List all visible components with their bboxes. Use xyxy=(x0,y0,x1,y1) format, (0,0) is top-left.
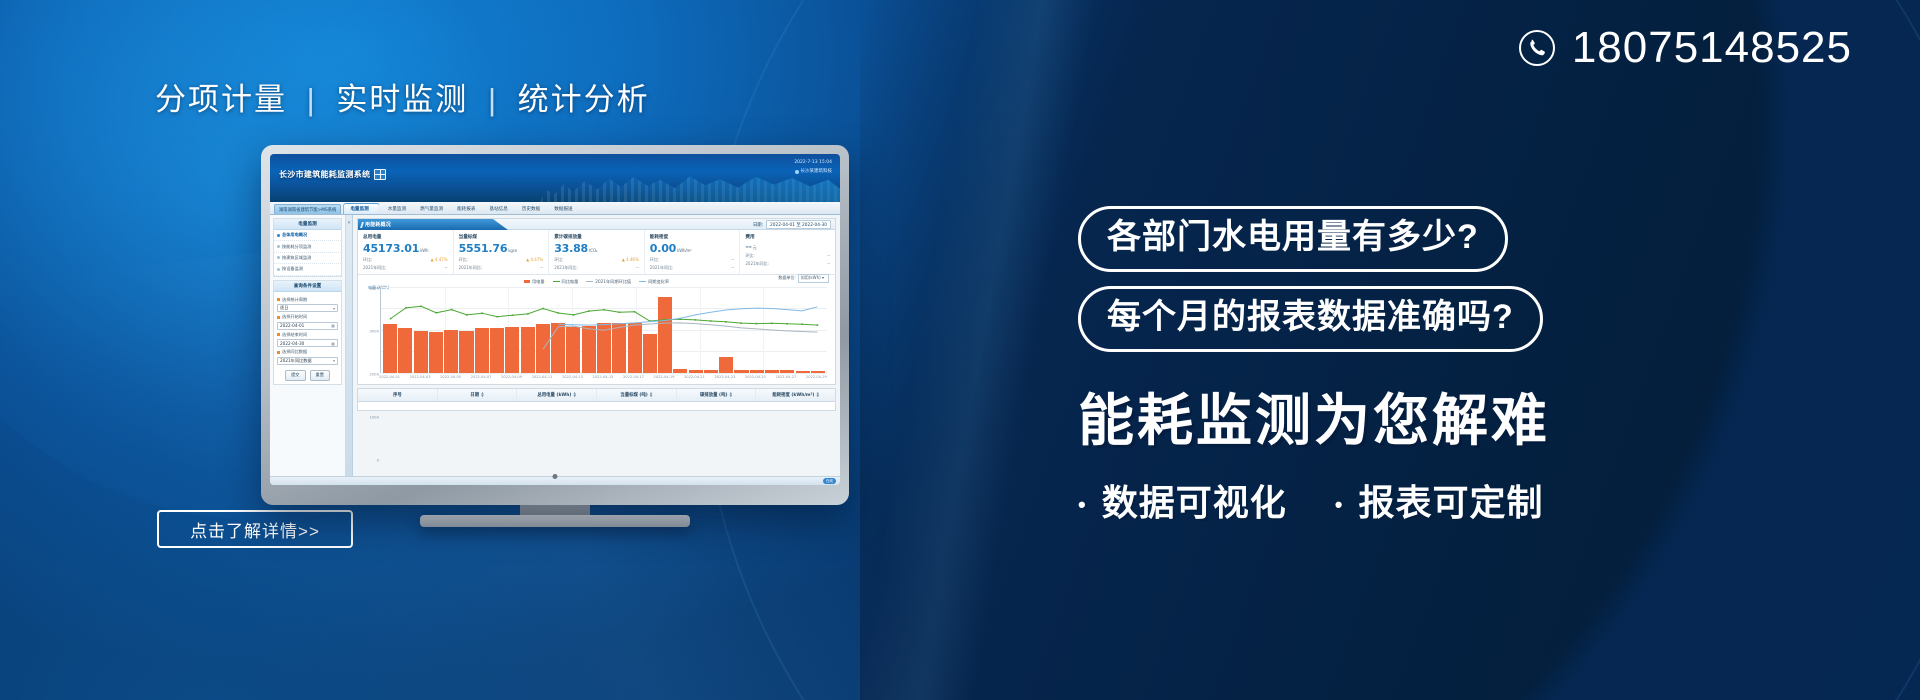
kpi-value: 0.00kWh/m² xyxy=(650,242,735,255)
date-range-value[interactable]: 2022-04-01 至 2022-04-30 xyxy=(766,220,831,229)
table-column-header[interactable]: 序号 xyxy=(358,389,438,401)
chart-legend: 用电量同比电量2021年同期环比值同期变化率 xyxy=(364,279,829,285)
phone-circle-icon xyxy=(1518,29,1556,67)
legend-label: 2021年同期环比值 xyxy=(595,279,631,285)
reset-button[interactable]: 重置 xyxy=(310,370,330,381)
app-body: 电量监测 总体用电概况 按能耗分项监测 xyxy=(270,215,840,485)
sidebar-item-by-area[interactable]: 按建筑区域监测 xyxy=(274,253,341,264)
line-series xyxy=(558,306,817,324)
tagline-part-2: 实时监测 xyxy=(336,82,468,117)
legend-item[interactable]: 同比电量 xyxy=(553,279,579,285)
banner-tagline: 分项计量 | 实时监测 | 统计分析 xyxy=(155,74,650,119)
x-tick-label: 2022-04-03 xyxy=(410,375,431,379)
sidebar-item-label: 按设备监测 xyxy=(282,266,303,272)
panel-header: 用能耗概况 日期: 2022-04-01 至 2022-04-30 xyxy=(358,219,835,230)
monitor-stand-base xyxy=(420,515,690,527)
chevron-down-icon: ▾ xyxy=(333,358,335,363)
kpi-value: 5551.76kgce xyxy=(459,242,544,255)
phone-number: 18075148525 xyxy=(1572,26,1852,70)
end-date-input[interactable]: 2022-04-30 ▦ xyxy=(277,339,338,347)
x-tick-label: 2022-04-29 xyxy=(806,375,827,379)
data-point xyxy=(588,310,590,312)
header-datetime: 2022-7-13 15:04 xyxy=(794,159,832,168)
x-tick-label: 2022-04-13 xyxy=(562,375,583,379)
sidebar-collapse-handle[interactable]: « xyxy=(346,215,353,485)
bullet-icon xyxy=(277,234,280,237)
y-tick-label: 3000 xyxy=(369,328,379,333)
monitor-bezel: 长沙市建筑能耗监测系统 2022-7-13 15:04 长沙某建筑科技 xyxy=(261,145,849,505)
data-point xyxy=(405,307,407,309)
field-label-period: 选择统计周期 xyxy=(277,297,338,303)
bullet-dot-2: • xyxy=(1335,492,1344,517)
table-column-label: 能耗密度 (kWh/m²) xyxy=(772,392,814,398)
x-tick-label: 2022-04-09 xyxy=(501,375,522,379)
x-tick-label: 2022-04-17 xyxy=(623,375,644,379)
chart-x-axis: 2022-04-012022-04-032022-04-052022-04-07… xyxy=(380,375,827,382)
table-column-header[interactable]: 当量标煤 (吨)▲▼ xyxy=(597,389,677,401)
kpi-change: ▲ 4.47% xyxy=(431,257,448,262)
date-range-label: 日期: xyxy=(753,222,763,228)
data-point xyxy=(573,314,575,316)
kpi-value: 33.88tCO₂ xyxy=(554,242,639,255)
table-header-row: 序号日期▲▼总用电量 (kWh)▲▼当量标煤 (吨)▲▼碳排放量 (吨)▲▼能耗… xyxy=(358,389,835,402)
legend-item[interactable]: 用电量 xyxy=(524,279,545,285)
data-table: 序号日期▲▼总用电量 (kWh)▲▼当量标煤 (吨)▲▼碳排放量 (吨)▲▼能耗… xyxy=(357,388,836,411)
sidebar-filter-card: 查询条件设置 选择统计周期 逐日 ▾ xyxy=(273,280,342,385)
app-header-meta: 2022-7-13 15:04 长沙某建筑科技 xyxy=(794,159,832,176)
building-grid-icon xyxy=(374,169,386,180)
data-point xyxy=(801,323,803,325)
header-user[interactable]: 长沙某建筑科技 xyxy=(794,168,832,177)
user-icon xyxy=(795,170,799,174)
data-point xyxy=(497,315,499,317)
calendar-icon: ▦ xyxy=(331,341,335,346)
kpi-card-carbon-emission: 累计碳排放量 33.88tCO₂ 环比: ▲ 4.46% xyxy=(549,230,645,274)
promo-banner: 分项计量 | 实时监测 | 统计分析 18075148525 各部门水电用量有多… xyxy=(0,0,1920,700)
line-series-layer xyxy=(381,287,827,373)
monitor-mockup: 长沙市建筑能耗监测系统 2022-7-13 15:04 长沙某建筑科技 xyxy=(261,145,849,505)
data-point xyxy=(603,309,605,311)
arrow-up-icon: ▲ xyxy=(622,257,625,262)
city-skyline-graphic xyxy=(540,172,840,202)
data-point xyxy=(420,305,422,307)
app-main: 用能耗概况 日期: 2022-04-01 至 2022-04-30 总用电量 xyxy=(353,215,840,485)
x-tick-label: 2022-04-07 xyxy=(471,375,492,379)
y-tick-label: 2000 xyxy=(369,371,379,376)
x-tick-label: 2022-04-19 xyxy=(654,375,675,379)
question-pill-1: 各部门水电用量有多少? xyxy=(1078,206,1508,272)
table-column-header[interactable]: 日期▲▼ xyxy=(438,389,518,401)
square-bullet-icon xyxy=(277,351,280,354)
sidebar-item-by-category[interactable]: 按能耗分项监测 xyxy=(274,241,341,252)
kpi-value: 45173.01kWh xyxy=(363,242,448,255)
panel-title: 用能耗概况 xyxy=(358,219,508,230)
data-point xyxy=(527,313,529,315)
data-point xyxy=(695,319,697,321)
calendar-icon: ▦ xyxy=(331,323,335,328)
data-point xyxy=(512,314,514,316)
tagline-separator-2: | xyxy=(488,82,498,117)
table-column-label: 序号 xyxy=(393,392,402,398)
sidebar-nav-card: 电量监测 总体用电概况 按能耗分项监测 xyxy=(273,218,342,277)
cta-button[interactable]: 点击了解详情>> xyxy=(157,510,353,548)
table-column-label: 日期 xyxy=(470,392,479,398)
field-label-yoy: 选择同比数据 xyxy=(277,349,338,355)
square-bullet-icon xyxy=(277,333,280,336)
table-column-label: 总用电量 (kWh) xyxy=(537,392,571,398)
square-bullet-icon xyxy=(277,316,280,319)
question-pill-2: 每个月的报表数据准确吗? xyxy=(1078,286,1543,352)
app-sidebar: 电量监测 总体用电概况 按能耗分项监测 xyxy=(270,215,346,485)
data-point xyxy=(634,310,636,312)
feature-bullet-2: 报表可定制 xyxy=(1358,482,1543,523)
bullet-icon xyxy=(277,256,280,259)
tab-water[interactable]: 水量监测 xyxy=(382,203,412,214)
start-date-input[interactable]: 2022-04-01 ▦ xyxy=(277,322,338,330)
data-point xyxy=(817,324,819,326)
data-point xyxy=(390,317,392,319)
sidebar-item-by-device[interactable]: 按设备监测 xyxy=(274,264,341,275)
kpi-card-energy-density: 能耗密度 0.00kWh/m² 环比: -- xyxy=(645,230,741,274)
sort-arrows-icon[interactable]: ▲▼ xyxy=(816,392,819,396)
bullet-icon xyxy=(277,268,280,271)
x-tick-label: 2022-04-11 xyxy=(532,375,553,379)
kpi-card-total-electricity: 总用电量 45173.01kWh 环比: ▲ 4.47% xyxy=(358,230,454,274)
x-tick-label: 2022-04-15 xyxy=(593,375,614,379)
data-point xyxy=(436,312,438,314)
monitor-screen: 长沙市建筑能耗监测系统 2022-7-13 15:04 长沙某建筑科技 xyxy=(270,154,840,485)
field-label-end: 选择结束时间 xyxy=(277,332,338,338)
table-column-header[interactable]: 能耗密度 (kWh/m²)▲▼ xyxy=(756,389,835,401)
gridline: 0 xyxy=(381,373,827,374)
arrow-up-icon: ▲ xyxy=(431,257,434,262)
sort-arrows-icon[interactable]: ▲▼ xyxy=(729,392,732,396)
table-body xyxy=(358,402,835,410)
kpi-card-standard-coal: 当量标煤 5551.76kgce 环比: ▲ 4.47% xyxy=(454,230,550,274)
period-select[interactable]: 逐日 ▾ xyxy=(277,304,338,312)
legend-swatch xyxy=(639,281,646,283)
sidebar-nav-title: 电量监测 xyxy=(274,219,341,230)
headline: 能耗监测为您解难 xyxy=(1078,390,1798,452)
header-user-name: 长沙某建筑科技 xyxy=(801,168,833,177)
x-tick-label: 2022-04-23 xyxy=(714,375,735,379)
legend-item[interactable]: 同期变化率 xyxy=(639,279,669,285)
data-point xyxy=(771,322,773,324)
data-point xyxy=(725,321,727,323)
tab-data-submit[interactable]: 数据报送 xyxy=(548,203,578,214)
monitor-power-led xyxy=(553,474,558,479)
sidebar-item-label: 按能耗分项监测 xyxy=(282,244,311,250)
sort-arrows-icon[interactable]: ▲▼ xyxy=(650,392,653,396)
chart-area: 用电量同比电量2021年同期环比值同期变化率 数据单位: 如用(kWh) ▾ 电… xyxy=(358,275,835,384)
feature-bullets: • 数据可视化 • 报表可定制 xyxy=(1078,474,1798,526)
sidebar-form-actions: 提交 重置 xyxy=(277,370,338,381)
legend-item[interactable]: 2021年同期环比值 xyxy=(586,279,631,285)
tab-electricity[interactable]: 电量监测 xyxy=(343,203,379,214)
kpi-change: ▲ 4.46% xyxy=(622,257,639,262)
y-tick-label: 1000 xyxy=(369,414,379,419)
chevron-down-icon: ▾ xyxy=(333,306,335,311)
x-tick-label: 2022-04-27 xyxy=(775,375,796,379)
legend-label: 用电量 xyxy=(532,279,545,285)
contact-phone[interactable]: 18075148525 xyxy=(1518,26,1852,70)
marketing-copy: 各部门水电用量有多少? 每个月的报表数据准确吗? 能耗监测为您解难 • 数据可视… xyxy=(1078,206,1798,526)
legend-label: 同比电量 xyxy=(562,279,579,285)
kpi-value: --元 xyxy=(745,242,830,251)
square-bullet-icon xyxy=(277,298,280,301)
table-column-header[interactable]: 碳排放量 (吨)▲▼ xyxy=(677,389,757,401)
data-point xyxy=(756,322,758,324)
y-tick-label: 4000 xyxy=(369,285,379,290)
data-point xyxy=(710,320,712,322)
data-point xyxy=(466,314,468,316)
sort-arrows-icon[interactable]: ▲▼ xyxy=(481,392,484,396)
yoy-select[interactable]: 2021年同比数据 ▾ xyxy=(277,357,338,365)
sort-arrows-icon[interactable]: ▲▼ xyxy=(573,392,576,396)
legend-label: 同期变化率 xyxy=(648,279,669,285)
feature-bullet-1: 数据可视化 xyxy=(1102,482,1287,523)
tab-home[interactable]: 湖南湖南省建筑节能>MS系统 xyxy=(274,204,341,214)
chart-unit-selector[interactable]: 数据单位: 如用(kWh) ▾ xyxy=(778,274,829,283)
app-tabbar: 湖南湖南省建筑节能>MS系统 电量监测 水量监测 燃气量监测 能耗报表 基站信息… xyxy=(270,202,840,215)
tab-reports[interactable]: 能耗报表 xyxy=(451,203,481,214)
data-point xyxy=(618,311,620,313)
data-point xyxy=(786,323,788,325)
sidebar-filter-form: 选择统计周期 逐日 ▾ 选择开始时间 xyxy=(274,292,341,384)
table-column-label: 碳排放量 (吨) xyxy=(700,392,728,398)
submit-button[interactable]: 提交 xyxy=(285,370,305,381)
x-tick-label: 2022-04-25 xyxy=(745,375,766,379)
bullet-dot-1: • xyxy=(1078,492,1087,517)
panel-date-range: 日期: 2022-04-01 至 2022-04-30 xyxy=(753,219,831,230)
data-point xyxy=(451,308,453,310)
x-tick-label: 2022-04-01 xyxy=(379,375,400,379)
sidebar-item-label: 按建筑区域监测 xyxy=(282,255,311,261)
kpi-card-cost: 费用 --元 环比: -- xyxy=(740,230,835,274)
sidebar-filter-title: 查询条件设置 xyxy=(274,281,341,292)
tagline-part-3: 统计分析 xyxy=(518,82,650,117)
x-tick-label: 2022-04-21 xyxy=(684,375,705,379)
data-point xyxy=(542,307,544,309)
unit-select-value[interactable]: 如用(kWh) ▾ xyxy=(798,274,829,283)
app-title: 长沙市建筑能耗监测系统 xyxy=(279,169,386,180)
legend-swatch xyxy=(586,281,593,283)
app-title-text: 长沙市建筑能耗监测系统 xyxy=(279,169,370,180)
bullet-icon xyxy=(277,245,280,248)
arrow-up-icon: ▲ xyxy=(526,257,529,262)
legend-swatch xyxy=(553,281,560,283)
sidebar-item-label: 总体用电概况 xyxy=(282,232,307,238)
table-column-header[interactable]: 总用电量 (kWh)▲▼ xyxy=(517,389,597,401)
overview-panel: 用能耗概况 日期: 2022-04-01 至 2022-04-30 总用电量 xyxy=(357,218,836,385)
tab-history[interactable]: 历史数据 xyxy=(516,203,546,214)
x-tick-label: 2022-04-05 xyxy=(440,375,461,379)
data-point xyxy=(740,322,742,324)
data-point xyxy=(558,312,560,314)
data-point xyxy=(481,312,483,314)
line-series xyxy=(543,322,817,348)
energy-monitoring-app: 长沙市建筑能耗监测系统 2022-7-13 15:04 长沙某建筑科技 xyxy=(270,154,840,485)
chart-plot: 01000200030004000 xyxy=(380,287,827,373)
kpi-row: 总用电量 45173.01kWh 环比: ▲ 4.47% xyxy=(358,230,835,275)
tab-station-info[interactable]: 基站信息 xyxy=(483,203,513,214)
sidebar-item-overview[interactable]: 总体用电概况 xyxy=(274,230,341,241)
tagline-separator-1: | xyxy=(307,82,317,117)
y-tick-label: 0 xyxy=(377,457,379,462)
status-badge: 在线 xyxy=(823,478,836,484)
kpi-change: ▲ 4.47% xyxy=(526,257,543,262)
tab-gas[interactable]: 燃气量监测 xyxy=(414,203,449,214)
legend-swatch xyxy=(524,280,530,283)
app-header: 长沙市建筑能耗监测系统 2022-7-13 15:04 长沙某建筑科技 xyxy=(270,154,840,202)
table-column-label: 当量标煤 (吨) xyxy=(620,392,648,398)
field-label-start: 选择开始时间 xyxy=(277,314,338,320)
tagline-part-1: 分项计量 xyxy=(155,82,287,117)
